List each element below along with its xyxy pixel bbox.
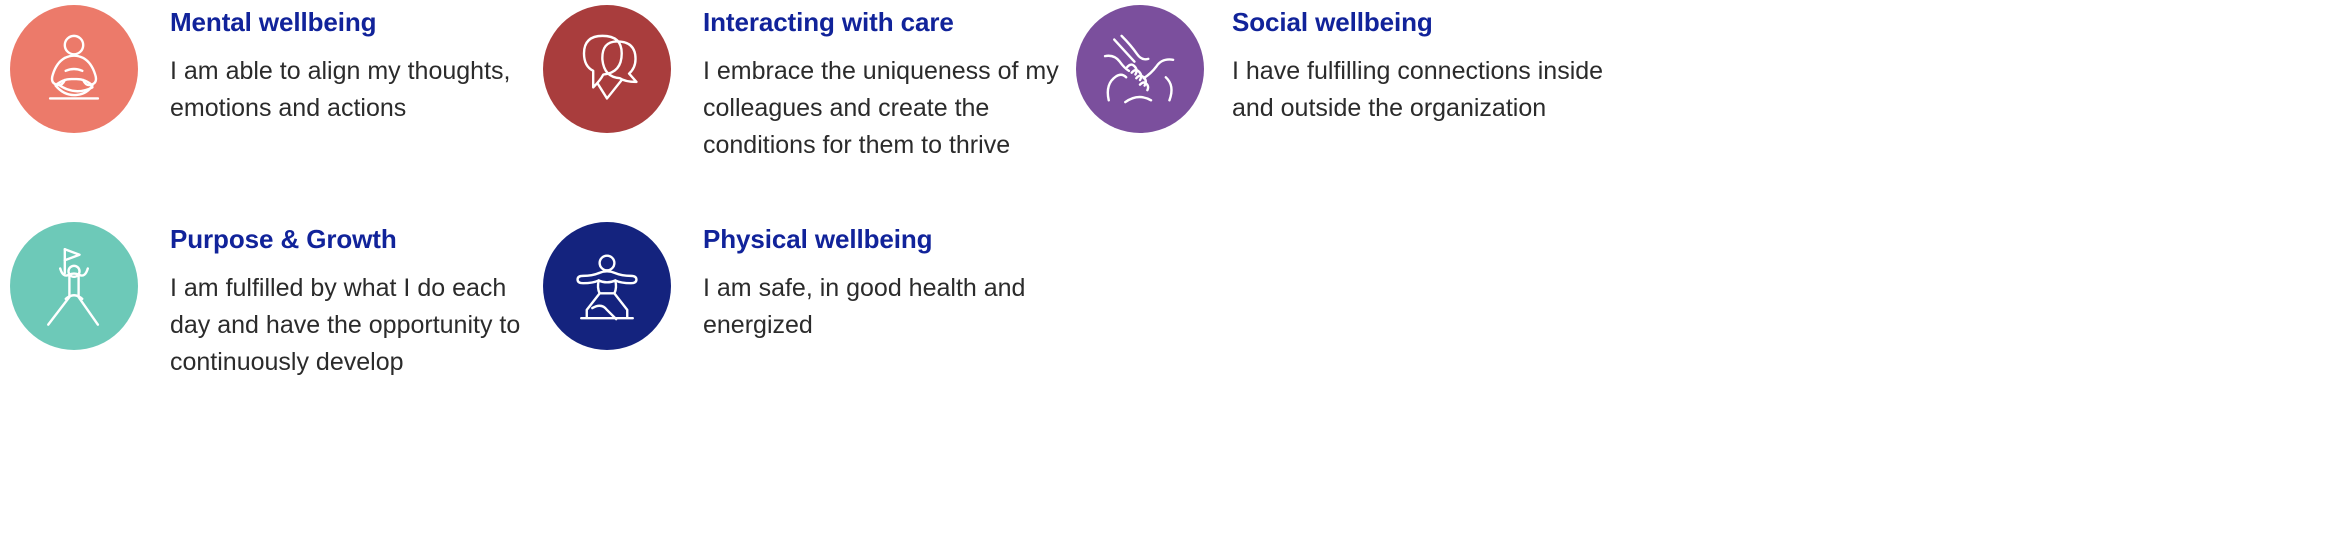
card-description: I am safe, in good health and energized (703, 270, 1025, 344)
card-description: I have fulfilling connections inside and… (1232, 53, 1603, 127)
text-block-mental-wellbeing: Mental wellbeing I am able to align my t… (170, 5, 510, 127)
mountain-summit-flag-icon (28, 240, 120, 332)
description-line: conditions for them to thrive (703, 127, 1059, 164)
card-purpose-and-growth[interactable]: Purpose & Growth I am fulfilled by what … (10, 222, 520, 381)
card-title: Mental wellbeing (170, 9, 510, 35)
icon-circle-physical-wellbeing (543, 222, 671, 350)
description-line: colleagues and create the (703, 90, 1059, 127)
card-title: Social wellbeing (1232, 9, 1603, 35)
description-line: I am safe, in good health and (703, 270, 1025, 307)
card-title: Interacting with care (703, 9, 1059, 35)
description-line: I am fulfilled by what I do each (170, 270, 520, 307)
card-description: I am able to align my thoughts, emotions… (170, 53, 510, 127)
icon-circle-purpose-and-growth (10, 222, 138, 350)
text-block-physical-wellbeing: Physical wellbeing I am safe, in good he… (703, 222, 1025, 344)
card-description: I am fulfilled by what I do each day and… (170, 270, 520, 381)
description-line: I am able to align my thoughts, (170, 53, 510, 90)
text-block-interacting-with-care: Interacting with care I embrace the uniq… (703, 5, 1059, 164)
card-physical-wellbeing[interactable]: Physical wellbeing I am safe, in good he… (543, 222, 1025, 350)
description-line: day and have the opportunity to (170, 307, 520, 344)
speech-bubbles-check-icon (561, 23, 653, 115)
card-title: Physical wellbeing (703, 226, 1025, 252)
clasped-hands-icon (1094, 23, 1186, 115)
text-block-purpose-and-growth: Purpose & Growth I am fulfilled by what … (170, 222, 520, 381)
icon-circle-interacting-with-care (543, 5, 671, 133)
warrior-pose-person-icon (561, 240, 653, 332)
card-social-wellbeing[interactable]: Social wellbeing I have fulfilling conne… (1076, 5, 1603, 133)
card-title: Purpose & Growth (170, 226, 520, 252)
card-description: I embrace the uniqueness of my colleague… (703, 53, 1059, 164)
meditating-person-icon (28, 23, 120, 115)
description-line: I have fulfilling connections inside (1232, 53, 1603, 90)
icon-circle-mental-wellbeing (10, 5, 138, 133)
card-interacting-with-care[interactable]: Interacting with care I embrace the uniq… (543, 5, 1059, 164)
text-block-social-wellbeing: Social wellbeing I have fulfilling conne… (1232, 5, 1603, 127)
icon-circle-social-wellbeing (1076, 5, 1204, 133)
description-line: I embrace the uniqueness of my (703, 53, 1059, 90)
description-line: continuously develop (170, 344, 520, 381)
description-line: and outside the organization (1232, 90, 1603, 127)
card-mental-wellbeing[interactable]: Mental wellbeing I am able to align my t… (10, 5, 510, 133)
description-line: energized (703, 307, 1025, 344)
wellbeing-pillars-board: Mental wellbeing I am able to align my t… (0, 0, 2351, 535)
description-line: emotions and actions (170, 90, 510, 127)
